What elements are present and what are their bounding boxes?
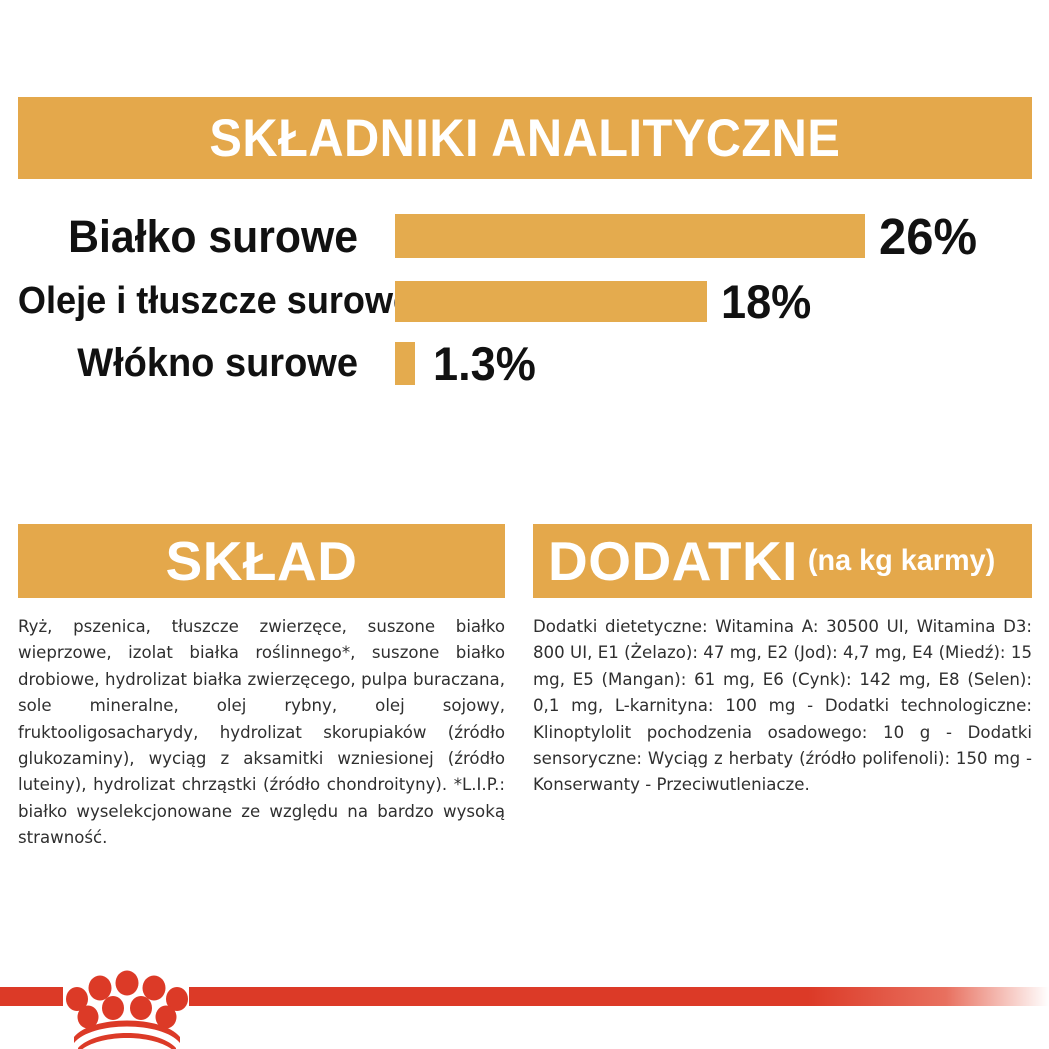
chart-row: Białko surowe 26% [0, 205, 1049, 267]
bar-group: 18% [395, 278, 815, 325]
additives-panel-title-suffix: (na kg karmy) [808, 546, 995, 576]
chart-category-label: Białko surowe [18, 214, 358, 259]
composition-panel-header: SKŁAD [18, 524, 505, 598]
composition-panel-title: SKŁAD [166, 534, 358, 589]
additives-panel-title: DODATKI [548, 534, 798, 589]
bar-group: 26% [395, 211, 981, 262]
footer-brand-band [0, 975, 1049, 1049]
composition-panel: SKŁAD Ryż, pszenica, tłuszcze zwierzęce,… [18, 524, 505, 852]
analytic-bar-chart: Białko surowe 26% Oleje i tłuszcze surow… [0, 205, 1049, 395]
chart-category-label: Włókno surowe [18, 343, 358, 383]
footer-rule-left [0, 987, 63, 1006]
bar-value-label: 26% [879, 211, 977, 262]
bar-fibre [395, 342, 415, 385]
nutrition-label-page: SKŁADNIKI ANALITYCZNE Białko surowe 26% … [0, 0, 1049, 1049]
chart-row: Włókno surowe 1.3% [0, 335, 1049, 391]
additives-panel: DODATKI (na kg karmy) Dodatki dietetyczn… [533, 524, 1032, 799]
additives-text: Dodatki dietetyczne: Witamina A: 30500 U… [533, 614, 1032, 799]
analytic-banner-title: SKŁADNIKI ANALITYCZNE [210, 112, 841, 165]
additives-panel-header: DODATKI (na kg karmy) [533, 524, 1032, 598]
bar-group: 1.3% [395, 340, 540, 387]
analytic-banner: SKŁADNIKI ANALITYCZNE [18, 97, 1032, 179]
composition-text: Ryż, pszenica, tłuszcze zwierzęce, suszo… [18, 614, 505, 852]
additives-panel-body: Dodatki dietetyczne: Witamina A: 30500 U… [533, 598, 1032, 799]
chart-row: Oleje i tłuszcze surowe 18% [0, 273, 1049, 329]
bar-value-label: 18% [721, 278, 811, 325]
bar-fat [395, 281, 707, 322]
royal-canin-crown-icon [62, 955, 192, 1049]
footer-rule-right [189, 987, 1049, 1006]
chart-category-label: Oleje i tłuszcze surowe [18, 282, 358, 320]
bar-value-label: 1.3% [433, 340, 536, 387]
bar-protein [395, 214, 865, 258]
composition-panel-body: Ryż, pszenica, tłuszcze zwierzęce, suszo… [18, 598, 505, 852]
